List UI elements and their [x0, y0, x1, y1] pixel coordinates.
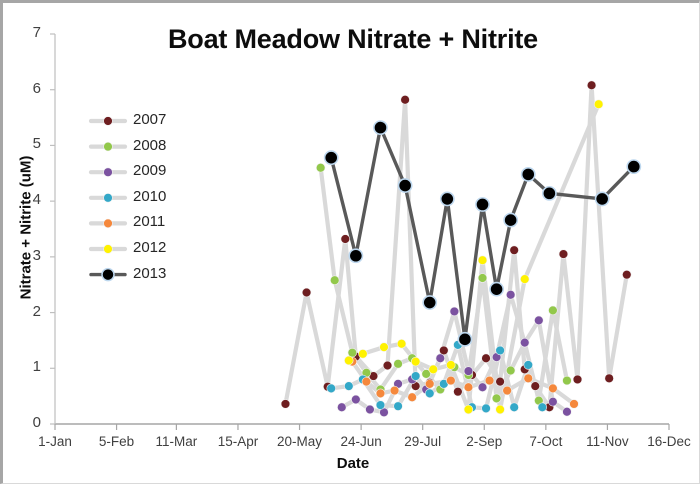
chart-title: Boat Meadow Nitrate + Nitrite — [98, 24, 608, 55]
data-point-2009 — [436, 354, 445, 363]
data-point-2011 — [464, 383, 473, 392]
data-point-2010 — [344, 382, 353, 391]
data-point-2011 — [524, 374, 533, 383]
data-point-2009 — [520, 338, 529, 347]
legend-label-2011: 2011 — [133, 213, 165, 230]
data-point-2012 — [344, 356, 353, 365]
data-point-2008 — [506, 366, 515, 375]
x-tick-label: 16-Dec — [638, 434, 700, 449]
x-tick-label: 20-May — [269, 434, 331, 449]
data-point-2009 — [464, 367, 473, 376]
data-point-2009 — [563, 407, 572, 416]
data-point-2012 — [464, 405, 473, 414]
y-tick-label: 4 — [13, 191, 41, 208]
data-point-2009 — [351, 395, 360, 404]
legend-label-2008: 2008 — [133, 137, 166, 154]
data-point-2012 — [411, 357, 420, 366]
data-point-2010 — [510, 403, 519, 412]
data-point-2011 — [376, 389, 385, 398]
x-tick-label: 11-Nov — [576, 434, 638, 449]
data-point-2011 — [485, 376, 494, 385]
data-point-2010 — [411, 372, 420, 381]
data-point-2009 — [506, 290, 515, 299]
data-point-2007 — [559, 250, 568, 259]
data-point-2010 — [327, 384, 336, 393]
legend-label-2010: 2010 — [133, 188, 166, 205]
series-line-2007 — [285, 85, 626, 407]
data-point-2007 — [383, 361, 392, 370]
y-tick-label: 5 — [13, 135, 41, 152]
data-point-2013 — [596, 192, 609, 205]
data-point-2008 — [548, 306, 557, 315]
data-point-2012 — [397, 339, 406, 348]
data-point-2011 — [362, 377, 371, 386]
data-point-2013 — [490, 283, 503, 296]
data-point-2009 — [478, 383, 487, 392]
x-tick-label: 11-Mar — [145, 434, 207, 449]
x-tick-label: 2-Sep — [453, 434, 515, 449]
data-point-2010 — [496, 346, 505, 355]
data-point-2007 — [531, 382, 540, 391]
data-point-2007 — [573, 375, 582, 384]
data-point-2013 — [423, 296, 436, 309]
legend-label-2009: 2009 — [133, 162, 166, 179]
data-point-2013 — [399, 179, 412, 192]
x-tick-label: 29-Jul — [392, 434, 454, 449]
data-point-2007 — [453, 387, 462, 396]
x-tick-label: 15-Apr — [207, 434, 269, 449]
data-point-2007 — [622, 270, 631, 279]
data-point-2009 — [337, 403, 346, 412]
data-point-2011 — [425, 379, 434, 388]
data-point-2013 — [476, 198, 489, 211]
data-point-2007 — [439, 346, 448, 355]
data-point-2011 — [408, 393, 417, 402]
data-point-2011 — [570, 400, 579, 409]
data-point-2012 — [446, 361, 455, 370]
data-point-2010 — [524, 361, 533, 370]
data-point-2011 — [446, 376, 455, 385]
data-point-2007 — [587, 81, 596, 90]
chart-container: Boat Meadow Nitrate + Nitrite Date Nitra… — [0, 0, 700, 484]
data-point-2007 — [510, 246, 519, 255]
data-point-2008 — [478, 274, 487, 283]
data-point-2012 — [380, 343, 389, 352]
data-point-2013 — [543, 187, 556, 200]
data-point-2008 — [330, 276, 339, 285]
y-tick-label: 1 — [13, 358, 41, 375]
data-point-2012 — [358, 349, 367, 358]
data-point-2009 — [534, 316, 543, 325]
legend-label-2007: 2007 — [133, 111, 166, 128]
data-point-2010 — [394, 402, 403, 411]
data-point-2012 — [429, 365, 438, 374]
data-point-2008 — [348, 348, 357, 357]
data-point-2008 — [492, 394, 501, 403]
data-point-2013 — [627, 160, 640, 173]
data-point-2012 — [594, 100, 603, 109]
y-tick-label: 2 — [13, 303, 41, 320]
data-point-2007 — [605, 374, 614, 383]
data-point-2007 — [482, 354, 491, 363]
data-point-2013 — [458, 333, 471, 346]
data-point-2007 — [496, 377, 505, 386]
data-point-2008 — [316, 163, 325, 172]
data-point-2008 — [394, 359, 403, 368]
data-point-2013 — [325, 151, 338, 164]
data-point-2009 — [548, 397, 557, 406]
x-tick-label: 1-Jan — [24, 434, 86, 449]
data-point-2011 — [390, 386, 399, 395]
legend-label-2012: 2012 — [133, 239, 166, 256]
x-tick-label: 7-Oct — [515, 434, 577, 449]
data-point-2013 — [374, 121, 387, 134]
data-point-2011 — [503, 386, 512, 395]
y-tick-label: 7 — [13, 24, 41, 41]
chart-plot-area — [3, 3, 700, 487]
data-point-2012 — [478, 256, 487, 265]
data-point-2010 — [425, 389, 434, 398]
data-point-2007 — [341, 235, 350, 244]
y-tick-label: 3 — [13, 247, 41, 264]
y-tick-label: 6 — [13, 80, 41, 97]
data-point-2013 — [522, 168, 535, 181]
data-point-2008 — [563, 376, 572, 385]
data-point-2007 — [281, 400, 290, 409]
y-tick-label: 0 — [13, 414, 41, 431]
x-tick-label: 24-Jun — [330, 434, 392, 449]
data-point-2009 — [366, 405, 375, 414]
data-point-2013 — [349, 249, 362, 262]
data-point-2013 — [441, 192, 454, 205]
data-point-2010 — [376, 401, 385, 410]
data-point-2009 — [450, 307, 459, 316]
x-axis-title: Date — [3, 455, 700, 472]
data-point-2011 — [548, 384, 557, 393]
data-point-2010 — [538, 403, 547, 412]
data-point-2007 — [401, 95, 410, 104]
data-point-2013 — [504, 213, 517, 226]
data-point-2007 — [302, 288, 311, 297]
legend-label-2013: 2013 — [133, 265, 166, 282]
x-tick-label: 5-Feb — [86, 434, 148, 449]
data-point-2010 — [482, 404, 491, 413]
data-point-2012 — [520, 275, 529, 284]
data-point-2012 — [496, 405, 505, 414]
